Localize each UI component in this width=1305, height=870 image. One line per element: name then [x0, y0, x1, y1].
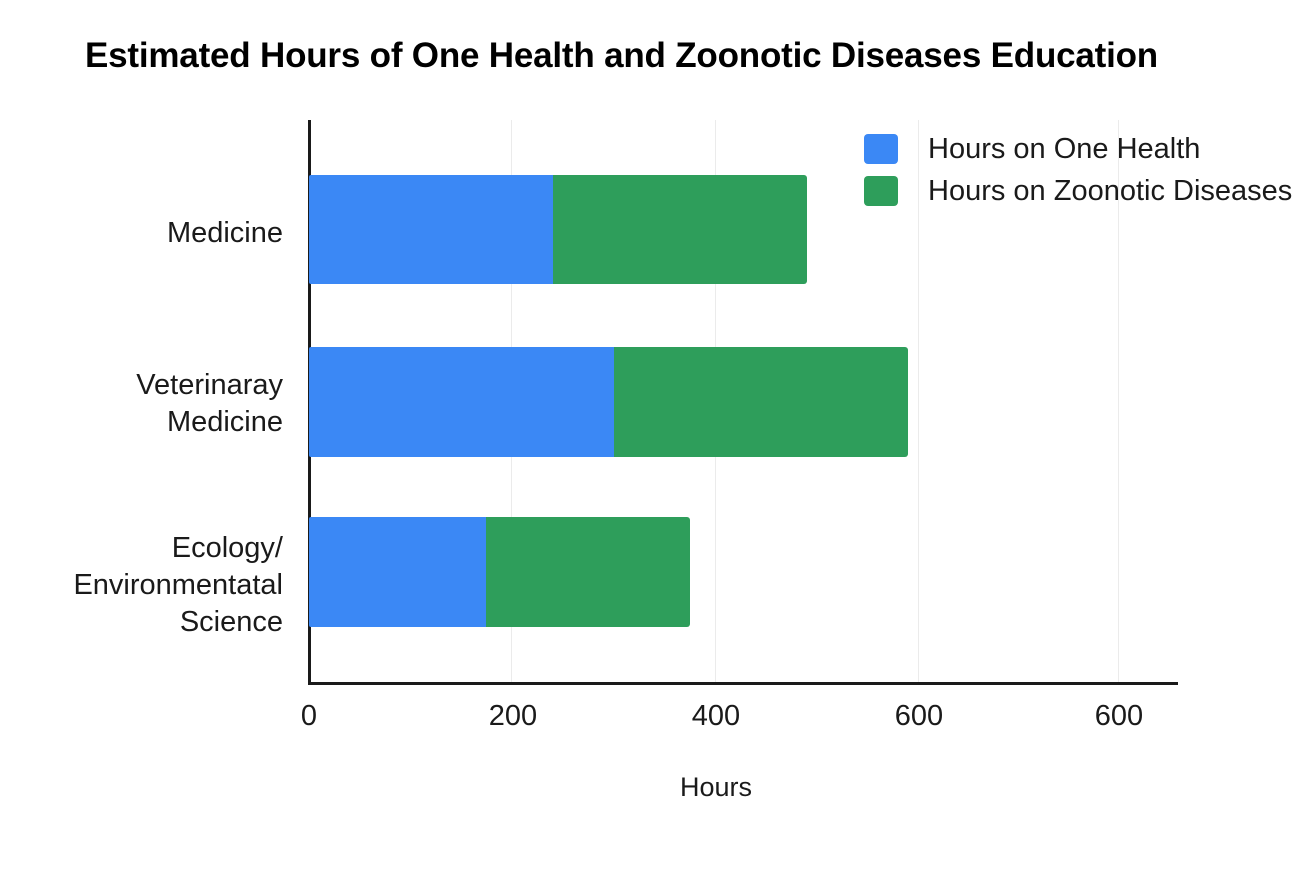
- gridline-800: [1118, 120, 1119, 683]
- x-tick-label-600: 600: [895, 700, 943, 733]
- table-row[interactable]: [309, 347, 908, 457]
- x-tick-label-800: 600: [1095, 700, 1143, 733]
- y-axis-label-line: Ecology/: [73, 530, 283, 567]
- x-axis-line: [308, 682, 1178, 685]
- bar-segment-one-health[interactable]: [309, 517, 486, 627]
- bar-segment-zoonotic[interactable]: [553, 175, 807, 284]
- y-axis-label-line: Medicine: [167, 215, 283, 252]
- chart-container: Estimated Hours of One Health and Zoonot…: [0, 0, 1305, 870]
- y-axis-label-line: Science: [73, 604, 283, 641]
- y-axis-label-line: Environmentatal: [73, 567, 283, 604]
- bar-segment-zoonotic[interactable]: [614, 347, 908, 457]
- bar-segment-zoonotic[interactable]: [486, 517, 690, 627]
- table-row[interactable]: [309, 517, 690, 627]
- x-tick-label-0: 0: [301, 700, 317, 733]
- bar-segment-one-health[interactable]: [309, 347, 614, 457]
- y-axis-label-ecology-environmental-science: Ecology/ Environmentatal Science: [73, 530, 283, 641]
- x-tick-label-200: 200: [489, 700, 537, 733]
- y-axis-label-line: Veterinaray: [136, 367, 283, 404]
- y-axis-label-line: Medicine: [136, 404, 283, 441]
- x-axis-title: Hours: [680, 772, 752, 803]
- y-axis-label-medicine: Medicine: [167, 215, 283, 252]
- y-axis-label-veterinary-medicine: Veterinaray Medicine: [136, 367, 283, 441]
- bar-segment-one-health[interactable]: [309, 175, 553, 284]
- x-tick-label-400: 400: [692, 700, 740, 733]
- table-row[interactable]: [309, 175, 807, 284]
- chart-title: Estimated Hours of One Health and Zoonot…: [85, 36, 1305, 76]
- gridline-600: [918, 120, 919, 683]
- plot-area: [308, 120, 1178, 685]
